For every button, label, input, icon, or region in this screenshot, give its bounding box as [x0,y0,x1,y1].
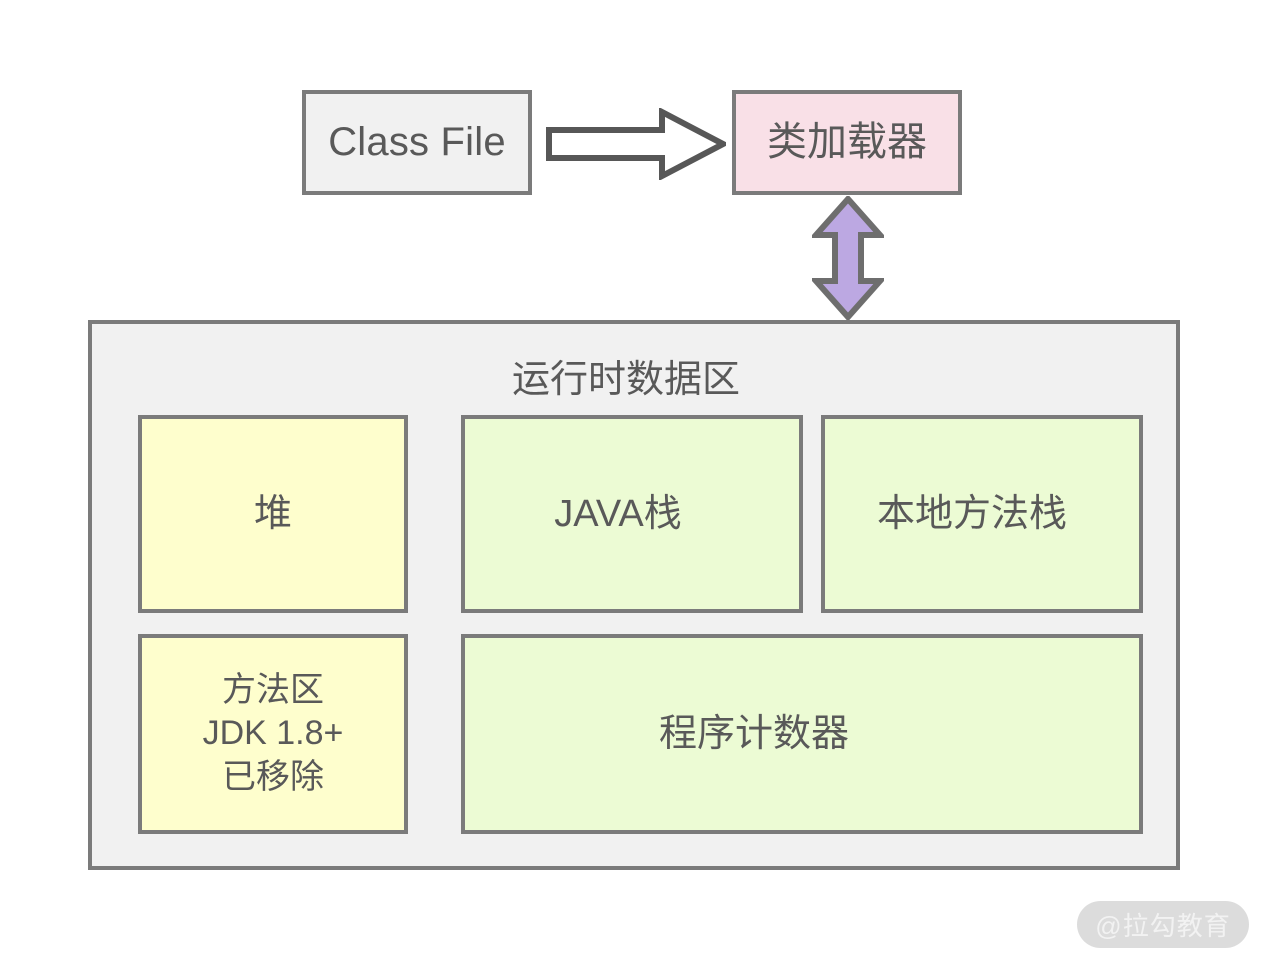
node-native-method-stack[interactable]: 本地方法栈 [821,415,1143,613]
node-class-loader[interactable]: 类加载器 [732,90,962,195]
node-heap[interactable]: 堆 [138,415,408,613]
node-class-file[interactable]: Class File [302,90,532,195]
node-method-area-label-line3: 已移除 [222,756,324,800]
watermark-badge: @拉勾教育 [1077,901,1249,948]
node-program-counter-label: 程序计数器 [659,712,849,757]
node-java-stack-label: JAVA栈 [554,492,681,537]
node-method-area[interactable]: 方法区 JDK 1.8+ 已移除 [138,634,408,834]
vertical-double-block-arrow-icon [812,196,884,320]
runtime-data-area-title: 运行时数据区 [84,348,1168,403]
node-method-area-label-line2: JDK 1.8+ [203,712,344,756]
watermark-label: @拉勾教育 [1095,906,1230,943]
node-method-area-label-line1: 方法区 [222,669,324,713]
runtime-data-area-container: 运行时数据区 堆 JAVA栈 本地方法栈 方法区 JDK 1.8+ 已移除 程序… [88,320,1180,870]
node-native-method-stack-label: 本地方法栈 [877,492,1067,537]
right-block-arrow-icon [546,108,726,180]
node-program-counter[interactable]: 程序计数器 [461,634,1143,834]
node-heap-label: 堆 [254,492,292,537]
node-java-stack[interactable]: JAVA栈 [461,415,803,613]
node-class-file-label: Class File [328,119,506,166]
node-class-loader-label: 类加载器 [767,119,927,166]
diagram-canvas: Class File 类加载器 运行时数据区 堆 JAVA栈 本地方法栈 方法区… [0,0,1270,961]
